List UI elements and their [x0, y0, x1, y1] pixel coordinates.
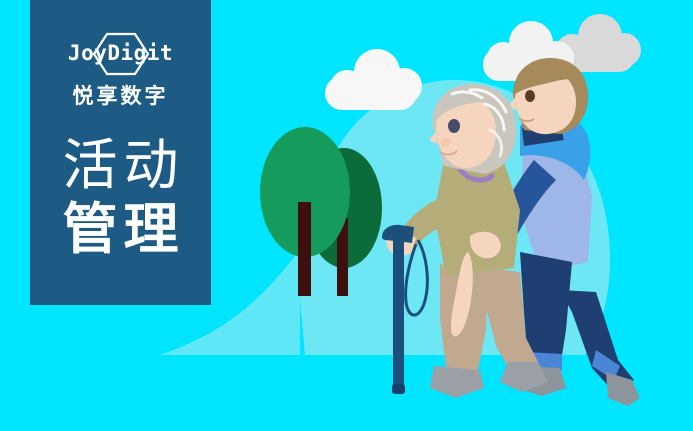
woman-eye: [448, 119, 460, 133]
page-title-line-1: 活动: [30, 133, 211, 197]
woman-cheek: [441, 137, 451, 147]
brand-logo: JoyDigit 悦享数字: [30, 30, 211, 110]
poster-canvas: JoyDigit 悦享数字 活动 管理: [0, 0, 693, 431]
man-eye: [525, 90, 535, 102]
page-title-line-2: 管理: [30, 197, 211, 261]
page-title: 活动 管理: [30, 133, 211, 261]
title-panel: JoyDigit 悦享数字 活动 管理: [30, 0, 211, 305]
logo-mark: JoyDigit: [30, 30, 211, 78]
cane-shaft: [393, 240, 404, 388]
cane-tip: [392, 384, 405, 394]
logo-wordmark: JoyDigit: [30, 41, 211, 65]
logo-subtitle: 悦享数字: [30, 84, 211, 110]
